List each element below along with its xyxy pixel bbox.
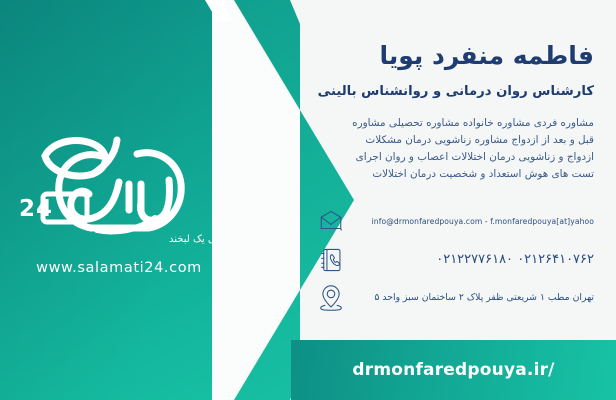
- envelope-icon: [316, 206, 346, 238]
- website-banner[interactable]: drmonfaredpouya.ir/: [291, 340, 616, 400]
- salamati24-apple-logo: 24 براحتی یک لبخند: [19, 118, 219, 258]
- contact-list: info@drmonfaredpouya.com - f.monfaredpou…: [316, 203, 594, 317]
- service-line: ازدواج و زناشویی درمان اختلالات اعصاب و …: [316, 149, 594, 166]
- service-line: تست های هوش استعداد و شخصیت درمان اختلال…: [316, 166, 594, 183]
- svg-text:براحتی یک لبخند: براحتی یک لبخند: [169, 234, 219, 245]
- phone-value[interactable]: ۰۲۱۲۶۴۱۰۷۶۲ ۰۲۱۲۲۷۷۶۱۸۰: [356, 252, 594, 267]
- contact-row-phone[interactable]: ۰۲۱۲۶۴۱۰۷۶۲ ۰۲۱۲۲۷۷۶۱۸۰: [316, 241, 594, 279]
- phone-book-icon: [316, 244, 346, 276]
- logo-website-url: www.salamati24.com: [36, 260, 202, 276]
- svg-text:24: 24: [19, 196, 53, 222]
- brand-logo: 24 براحتی یک لبخند www.salamati24.com: [14, 118, 224, 293]
- services-list: مشاوره فردی مشاوره خانواده مشاوره تحصیلی…: [316, 115, 594, 182]
- email-value[interactable]: info@drmonfaredpouya.com - f.monfaredpou…: [356, 217, 594, 226]
- service-line: مشاوره فردی مشاوره خانواده مشاوره تحصیلی…: [316, 115, 594, 132]
- person-name: فاطمه منفرد پویا: [316, 40, 594, 71]
- contact-row-address[interactable]: تهران مطب ۱ شریعتی ظفر پلاک ۲ ساختمان سب…: [316, 279, 594, 317]
- website-url[interactable]: drmonfaredpouya.ir/: [352, 360, 554, 380]
- contact-row-email[interactable]: info@drmonfaredpouya.com - f.monfaredpou…: [316, 203, 594, 241]
- address-value[interactable]: تهران مطب ۱ شریعتی ظفر پلاک ۲ ساختمان سب…: [356, 292, 594, 303]
- person-title: کارشناس روان درمانی و روانشناس بالینی: [316, 84, 594, 99]
- map-pin-icon: [316, 282, 346, 314]
- service-line: قبل و بعد از ازدواج مشاوره زناشویی درمان…: [316, 132, 594, 149]
- business-card: 24 براحتی یک لبخند www.salamati24.com فا…: [0, 0, 616, 400]
